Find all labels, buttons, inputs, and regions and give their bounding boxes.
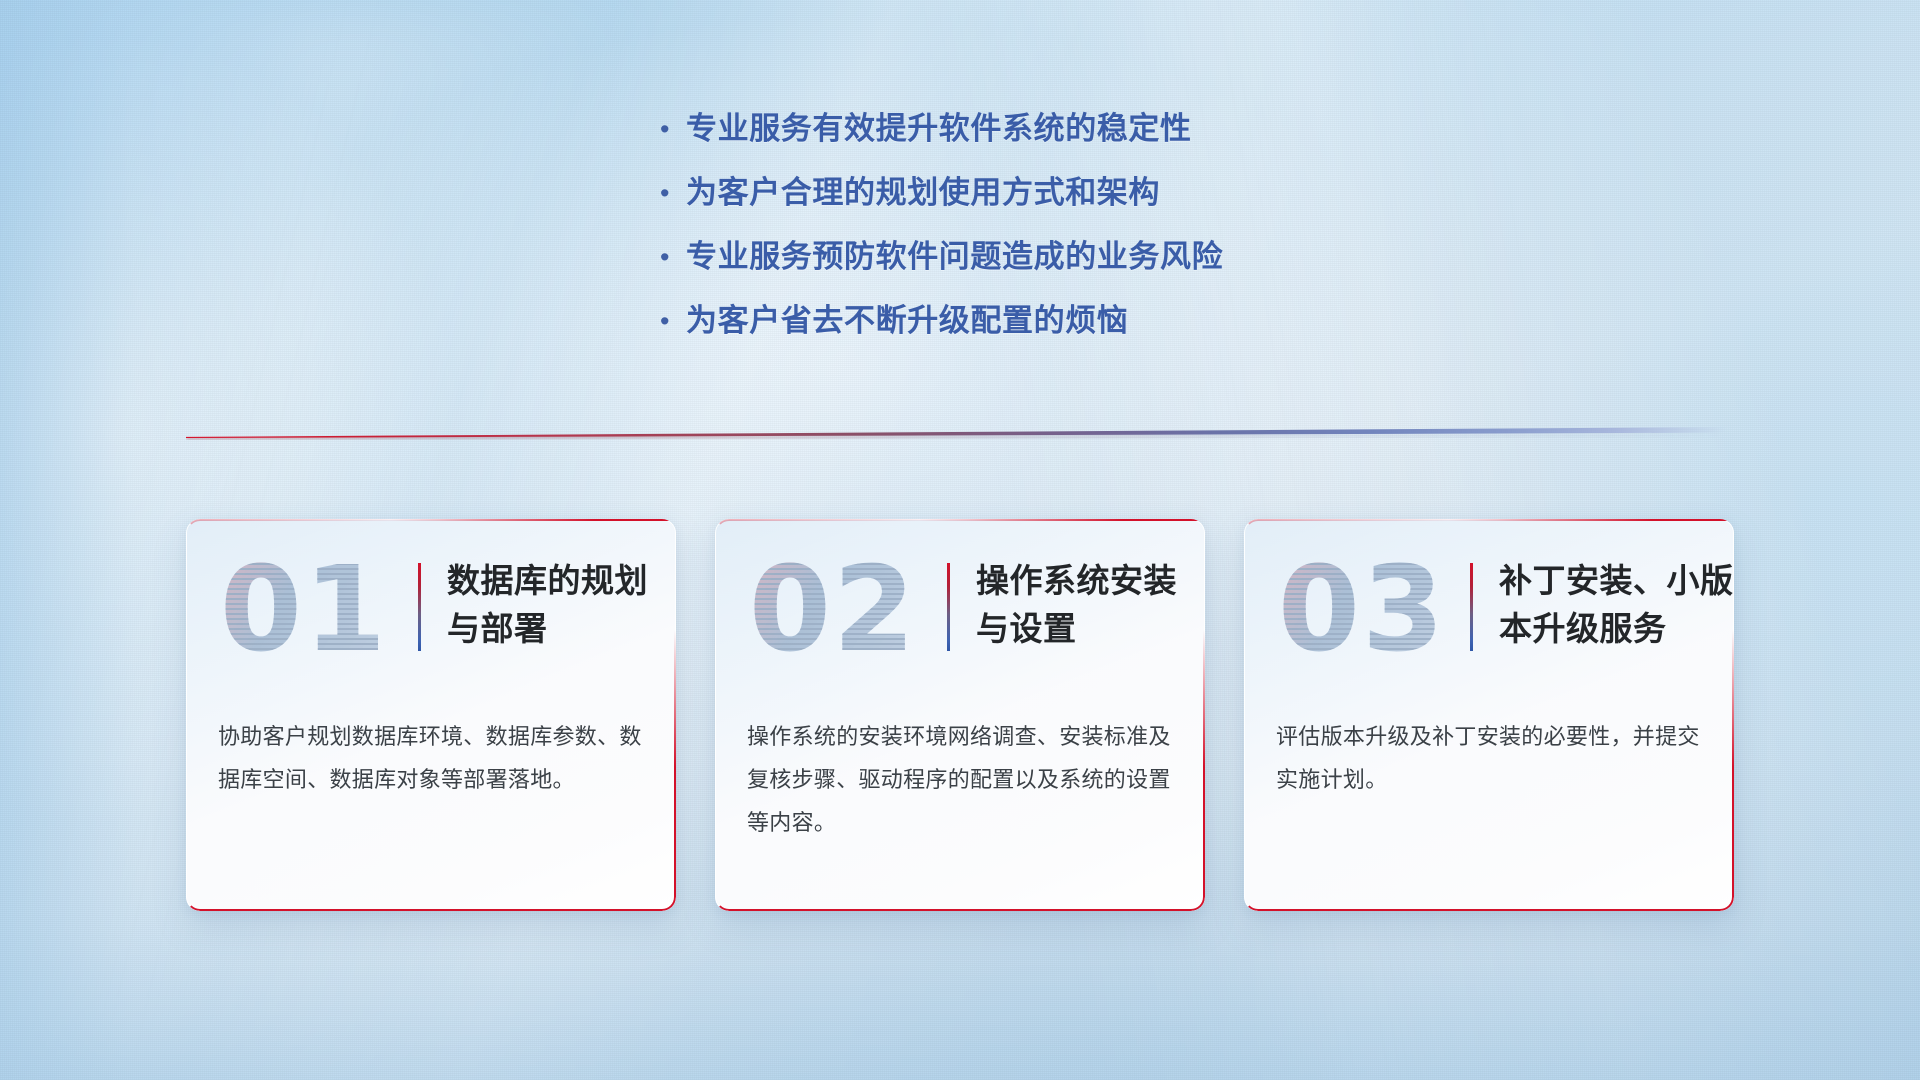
bullet-item-text: 专业服务预防软件问题造成的业务风险: [686, 236, 1223, 278]
card-red-accent-top: [919, 519, 1203, 521]
card-title: 补丁安装、小版本升级服务: [1499, 557, 1734, 653]
bullet-dot-icon: •: [660, 172, 686, 214]
slide-canvas: • 专业服务有效提升软件系统的稳定性 • 为客户合理的规划使用方式和架构 • 专…: [0, 0, 1920, 1080]
bullet-dot-icon: •: [660, 236, 686, 278]
bullet-dot-icon: •: [660, 108, 686, 150]
bullet-item-text: 为客户省去不断升级配置的烦恼: [686, 300, 1128, 342]
service-card-group: 01 数据库的规划与部署 协助客户规划数据库环境、数据库参数、数据库空间、数据库…: [186, 519, 1734, 911]
card-number-watermark: 02: [733, 543, 933, 675]
card-number-watermark: 01: [204, 543, 404, 675]
service-card[interactable]: 03 补丁安装、小版本升级服务 评估版本升级及补丁安装的必要性，并提交实施计划。: [1244, 519, 1734, 911]
card-title: 数据库的规划与部署: [447, 557, 676, 653]
card-header: 补丁安装、小版本升级服务: [1470, 557, 1734, 653]
card-number-watermark: 03: [1262, 543, 1462, 675]
card-body-text: 协助客户规划数据库环境、数据库参数、数据库空间、数据库对象等部署落地。: [218, 715, 646, 801]
bullet-item: • 为客户合理的规划使用方式和架构: [660, 172, 1460, 236]
section-divider: [186, 424, 1726, 438]
bullet-item: • 专业服务预防软件问题造成的业务风险: [660, 236, 1460, 300]
card-title: 操作系统安装与设置: [976, 557, 1205, 653]
bullet-item-text: 专业服务有效提升软件系统的稳定性: [686, 108, 1192, 150]
card-body-text: 操作系统的安装环境网络调查、安装标准及复核步骤、驱动程序的配置以及系统的设置等内…: [747, 715, 1175, 844]
bullet-item: • 专业服务有效提升软件系统的稳定性: [660, 108, 1460, 172]
card-header: 数据库的规划与部署: [418, 557, 676, 653]
bullet-dot-icon: •: [660, 300, 686, 342]
bullet-item-text: 为客户合理的规划使用方式和架构: [686, 172, 1160, 214]
card-body-text: 评估版本升级及补丁安装的必要性，并提交实施计划。: [1276, 715, 1704, 801]
service-card[interactable]: 02 操作系统安装与设置 操作系统的安装环境网络调查、安装标准及复核步骤、驱动程…: [715, 519, 1205, 911]
bullet-item: • 为客户省去不断升级配置的烦恼: [660, 300, 1460, 364]
service-card[interactable]: 01 数据库的规划与部署 协助客户规划数据库环境、数据库参数、数据库空间、数据库…: [186, 519, 676, 911]
card-title-rule: [1470, 563, 1473, 651]
card-title-rule: [418, 563, 421, 651]
card-red-accent-top: [390, 519, 674, 521]
card-red-accent-top: [1448, 519, 1732, 521]
card-title-rule: [947, 563, 950, 651]
benefits-bullet-list: • 专业服务有效提升软件系统的稳定性 • 为客户合理的规划使用方式和架构 • 专…: [660, 108, 1460, 364]
card-header: 操作系统安装与设置: [947, 557, 1205, 653]
